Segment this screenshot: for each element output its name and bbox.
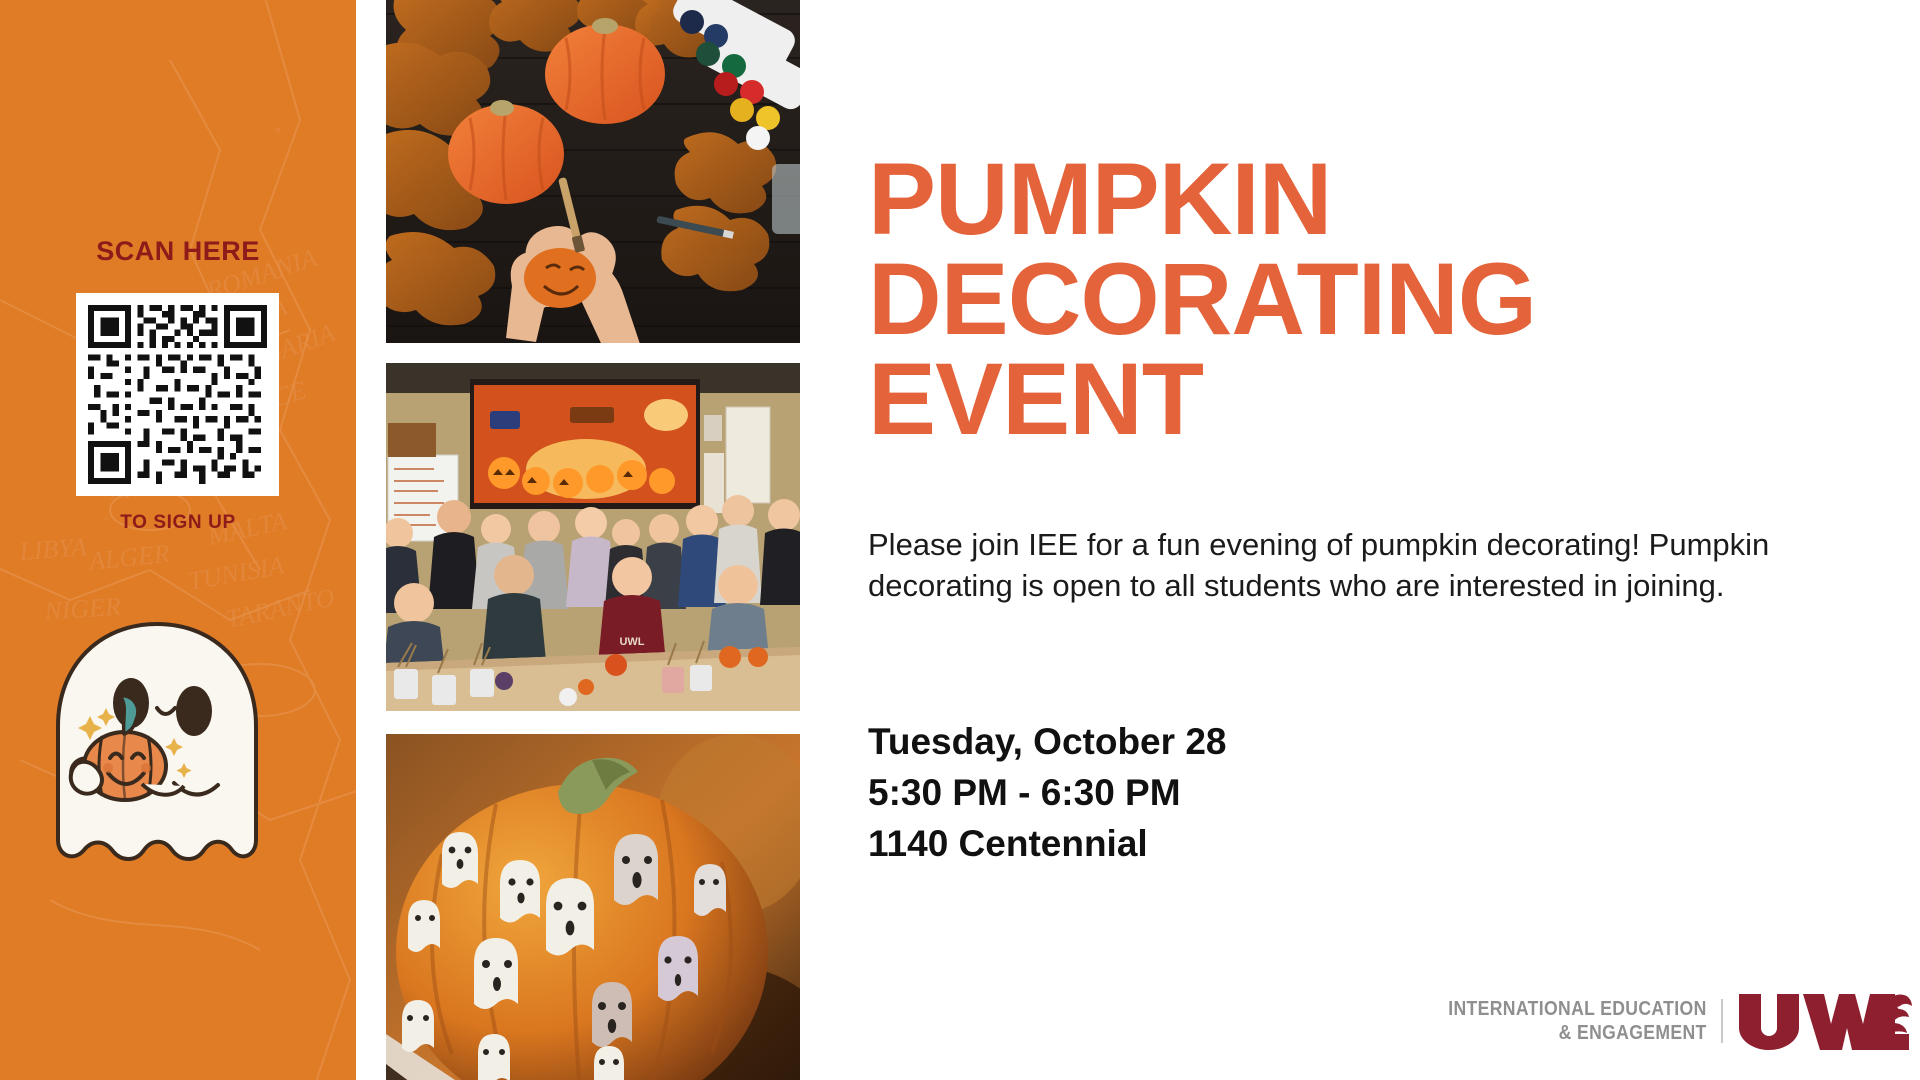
event-date: Tuesday, October 28 <box>868 716 1226 767</box>
svg-text:TUNISIA: TUNISIA <box>186 551 286 596</box>
headline-line-1: PUMPKIN <box>868 150 1728 250</box>
event-poster: ROMANIA SERBIA BULGARIA GREECE Mediterra… <box>0 0 1920 1080</box>
page-title: PUMPKIN DECORATING EVENT <box>868 150 1728 450</box>
event-location: 1140 Centennial <box>868 818 1226 869</box>
uwl-eagle-icon <box>1737 990 1912 1052</box>
svg-text:ALGER: ALGER <box>86 539 172 577</box>
svg-text:LIBYA: LIBYA <box>17 532 88 566</box>
sidebar: ROMANIA SERBIA BULGARIA GREECE Mediterra… <box>0 0 356 1080</box>
map-background-pattern: ROMANIA SERBIA BULGARIA GREECE Mediterra… <box>0 0 356 1080</box>
photo-column: UWL <box>386 0 800 1080</box>
headline-line-3: EVENT <box>868 350 1728 450</box>
scan-here-label: SCAN HERE <box>0 236 356 267</box>
photo-ghost-pumpkin <box>386 734 800 1080</box>
event-description: Please join IEE for a fun evening of pum… <box>868 525 1858 607</box>
event-details: Tuesday, October 28 5:30 PM - 6:30 PM 11… <box>868 716 1226 869</box>
logo-divider <box>1721 999 1723 1043</box>
headline-line-2: DECORATING <box>868 250 1728 350</box>
ghost-holding-pumpkin-icon <box>24 608 290 898</box>
svg-text:UWL: UWL <box>619 636 644 648</box>
event-time: 5:30 PM - 6:30 PM <box>868 767 1226 818</box>
to-sign-up-label: TO SIGN UP <box>0 512 356 534</box>
logo-wordmark: INTERNATIONAL EDUCATION & ENGAGEMENT <box>1449 997 1707 1046</box>
content-area: PUMPKIN DECORATING EVENT Please join IEE… <box>868 0 1920 1080</box>
qr-code[interactable] <box>76 293 279 496</box>
uwl-iee-logo: INTERNATIONAL EDUCATION & ENGAGEMENT <box>1413 990 1912 1052</box>
logo-line-2: & ENGAGEMENT <box>1449 1021 1707 1045</box>
photo-pumpkin-painting <box>386 0 800 343</box>
photo-group-event: UWL <box>386 363 800 711</box>
logo-line-1: INTERNATIONAL EDUCATION <box>1449 997 1707 1021</box>
